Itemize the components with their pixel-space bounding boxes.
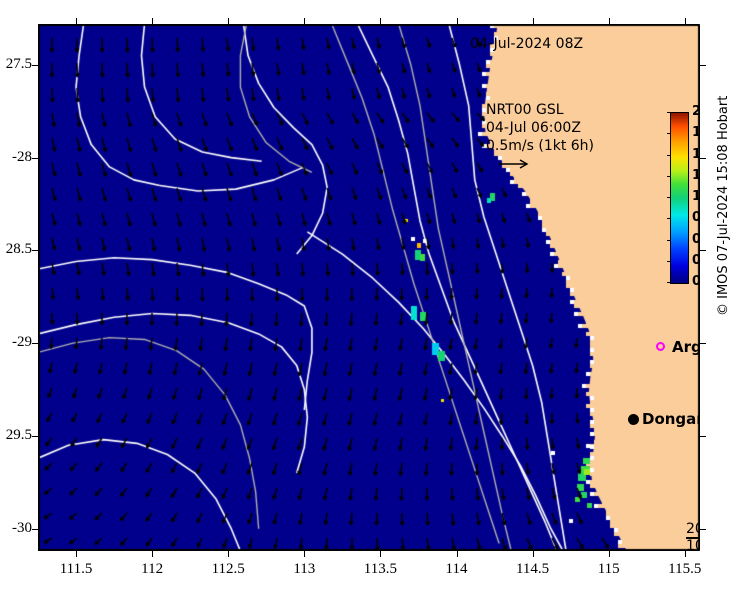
y-tick-label: 27.5 xyxy=(0,56,32,73)
colorbar-tick xyxy=(667,197,671,198)
x-tick xyxy=(457,551,458,557)
product-label-line3: 0.5m/s (1kt 6h) xyxy=(486,138,594,154)
y-tick xyxy=(700,343,706,344)
x-tick xyxy=(685,18,686,24)
x-tick-label: 112 xyxy=(122,561,182,578)
bathy-1000m-entry: 1000m xyxy=(686,538,700,551)
y-tick-label: -30 xyxy=(0,520,32,537)
bathy-200m-entry: 200m xyxy=(686,521,700,538)
colorbar-tick xyxy=(667,218,671,219)
y-tick xyxy=(32,529,38,530)
x-tick xyxy=(533,18,534,24)
y-tick xyxy=(700,436,706,437)
y-tick-label: -28 xyxy=(0,149,32,166)
y-tick xyxy=(700,250,706,251)
y-tick xyxy=(32,343,38,344)
x-tick-label: 115.5 xyxy=(655,561,715,578)
x-tick-label: 114.5 xyxy=(503,561,563,578)
x-tick xyxy=(76,18,77,24)
y-tick-label: -29 xyxy=(0,334,32,351)
x-tick xyxy=(228,18,229,24)
x-tick xyxy=(304,18,305,24)
colorbar-title: Age (days) of filled SST (wrt latest) xyxy=(699,52,700,302)
y-tick-label: 29.5 xyxy=(0,427,32,444)
x-tick xyxy=(380,18,381,24)
x-tick xyxy=(609,18,610,24)
x-tick xyxy=(152,18,153,24)
colorbar-tick xyxy=(667,282,671,283)
x-tick xyxy=(228,551,229,557)
x-tick xyxy=(609,551,610,557)
velocity-scale-arrow-icon xyxy=(498,158,532,170)
y-tick xyxy=(32,250,38,251)
y-tick xyxy=(32,436,38,437)
bathy-200m-label: 200m xyxy=(686,521,700,537)
timestamp-label: 04-Jul-2024 08Z xyxy=(470,36,583,52)
colorbar-tick xyxy=(667,176,671,177)
x-tick-label: 114 xyxy=(427,561,487,578)
colorbar-tick xyxy=(667,155,671,156)
y-tick xyxy=(32,158,38,159)
x-tick-label: 111.5 xyxy=(46,561,106,578)
dongara-marker-icon xyxy=(628,414,639,425)
colorbar-tick xyxy=(667,112,671,113)
y-tick-label: 28.5 xyxy=(0,241,32,258)
y-tick xyxy=(700,158,706,159)
map-plot-area: 04-Jul-2024 08Z NRT00 GSL 04-Jul 06:00Z … xyxy=(38,24,700,551)
x-tick xyxy=(304,551,305,557)
y-tick xyxy=(700,529,706,530)
x-tick xyxy=(457,18,458,24)
x-tick-label: 112.5 xyxy=(198,561,258,578)
dongara-city-label: Dongara xyxy=(642,410,700,428)
colorbar-gradient xyxy=(670,112,689,284)
bathymetry-legend: 200m 1000m xyxy=(686,521,700,551)
y-tick xyxy=(700,65,706,66)
product-label-line1: NRT00 GSL xyxy=(486,102,564,118)
x-tick xyxy=(533,551,534,557)
x-tick-label: 113 xyxy=(274,561,334,578)
y-tick xyxy=(32,65,38,66)
argo-legend-label: Argo xyxy=(672,338,700,356)
x-tick xyxy=(685,551,686,557)
colorbar-tick xyxy=(667,261,671,262)
copyright-label: © IMOS 07-Jul-2024 15:08 Hobart xyxy=(716,56,731,316)
x-tick xyxy=(76,551,77,557)
colorbar-tick xyxy=(667,240,671,241)
x-tick-label: 113.5 xyxy=(350,561,410,578)
colorbar-tick xyxy=(667,133,671,134)
x-tick xyxy=(380,551,381,557)
product-label-line2: 04-Jul 06:00Z xyxy=(486,120,581,136)
sst-age-raster xyxy=(38,24,700,551)
x-tick xyxy=(152,551,153,557)
x-tick-label: 115 xyxy=(579,561,639,578)
argo-marker-icon xyxy=(656,342,665,351)
bathy-1000m-label: 1000m xyxy=(686,538,700,551)
